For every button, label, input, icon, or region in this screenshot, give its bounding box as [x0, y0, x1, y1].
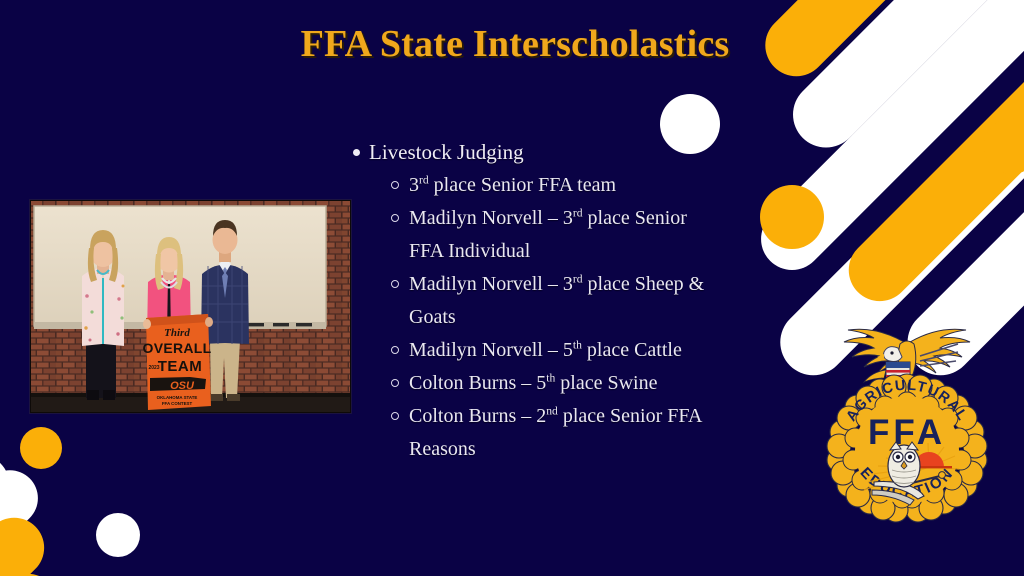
- list-item-livestock-judging: Livestock Judging: [345, 136, 720, 169]
- bullet-circle-icon: [391, 214, 399, 222]
- svg-text:2023: 2023: [148, 365, 159, 371]
- list-item: Colton Burns – 5th place Swine: [383, 367, 720, 400]
- deco-circle-gold-right: [984, 118, 1024, 174]
- list-item: Madilyn Norvell – 5th place Cattle: [383, 334, 720, 367]
- team-photo: Third OVERALL TEAM 2023 OSU OKLAHOMA STA…: [30, 200, 351, 413]
- bullet-circle-icon: [391, 412, 399, 420]
- list-item-label: Livestock Judging: [369, 140, 524, 164]
- bullet-list-level2: 3rd place Senior FFA team Madilyn Norvel…: [345, 169, 720, 466]
- deco-circle-white-bl: [96, 513, 140, 557]
- list-item-label: 3rd place Senior FFA team: [409, 174, 616, 196]
- list-item: 3rd place Senior FFA team: [383, 169, 720, 202]
- svg-text:TEAM: TEAM: [158, 358, 203, 375]
- list-item: Madilyn Norvell – 3rd place Senior FFA I…: [383, 202, 720, 268]
- svg-text:OKLAHOMA STATE: OKLAHOMA STATE: [157, 395, 198, 400]
- svg-text:Third: Third: [164, 327, 190, 339]
- bullet-content: Livestock Judging 3rd place Senior FFA t…: [345, 136, 720, 466]
- bullet-circle-icon: [391, 181, 399, 189]
- list-item: Colton Burns – 2nd place Senior FFA Reas…: [383, 400, 720, 466]
- list-item-label: Madilyn Norvell – 5th place Cattle: [409, 339, 682, 361]
- svg-text:OSU: OSU: [170, 380, 195, 392]
- list-item: Madilyn Norvell – 3rd place Sheep & Goat…: [383, 268, 720, 334]
- slide-title: FFA State Interscholastics: [0, 22, 1024, 66]
- ffa-emblem: AGRICULTURAL EDUCATION: [812, 304, 1002, 532]
- svg-text:FFA CONTEST: FFA CONTEST: [162, 401, 193, 406]
- list-item-label: Madilyn Norvell – 3rd place Sheep & Goat…: [409, 273, 704, 328]
- list-item-label: Madilyn Norvell – 3rd place Senior FFA I…: [409, 207, 687, 262]
- owl-icon: [888, 442, 920, 487]
- list-item-label: Colton Burns – 2nd place Senior FFA Reas…: [409, 405, 701, 460]
- slide-canvas: FFA State Interscholastics: [0, 0, 1024, 576]
- slide-title-text: FFA State Interscholastics: [295, 22, 730, 66]
- bullet-circle-icon: [391, 346, 399, 354]
- bullet-circle-icon: [391, 280, 399, 288]
- list-item-label: Colton Burns – 5th place Swine: [409, 372, 657, 394]
- bullet-circle-icon: [391, 379, 399, 387]
- svg-text:OVERALL: OVERALL: [143, 340, 212, 356]
- deco-shapes-bottom-left: [0, 409, 140, 576]
- bullet-disc-icon: [353, 149, 360, 156]
- bullet-list-level1: Livestock Judging: [345, 136, 720, 169]
- photo-award-banner: Third OVERALL TEAM 2023 OSU OKLAHOMA STA…: [143, 314, 212, 410]
- deco-circle-gold-bl: [20, 427, 62, 469]
- deco-circle-gold: [760, 185, 824, 249]
